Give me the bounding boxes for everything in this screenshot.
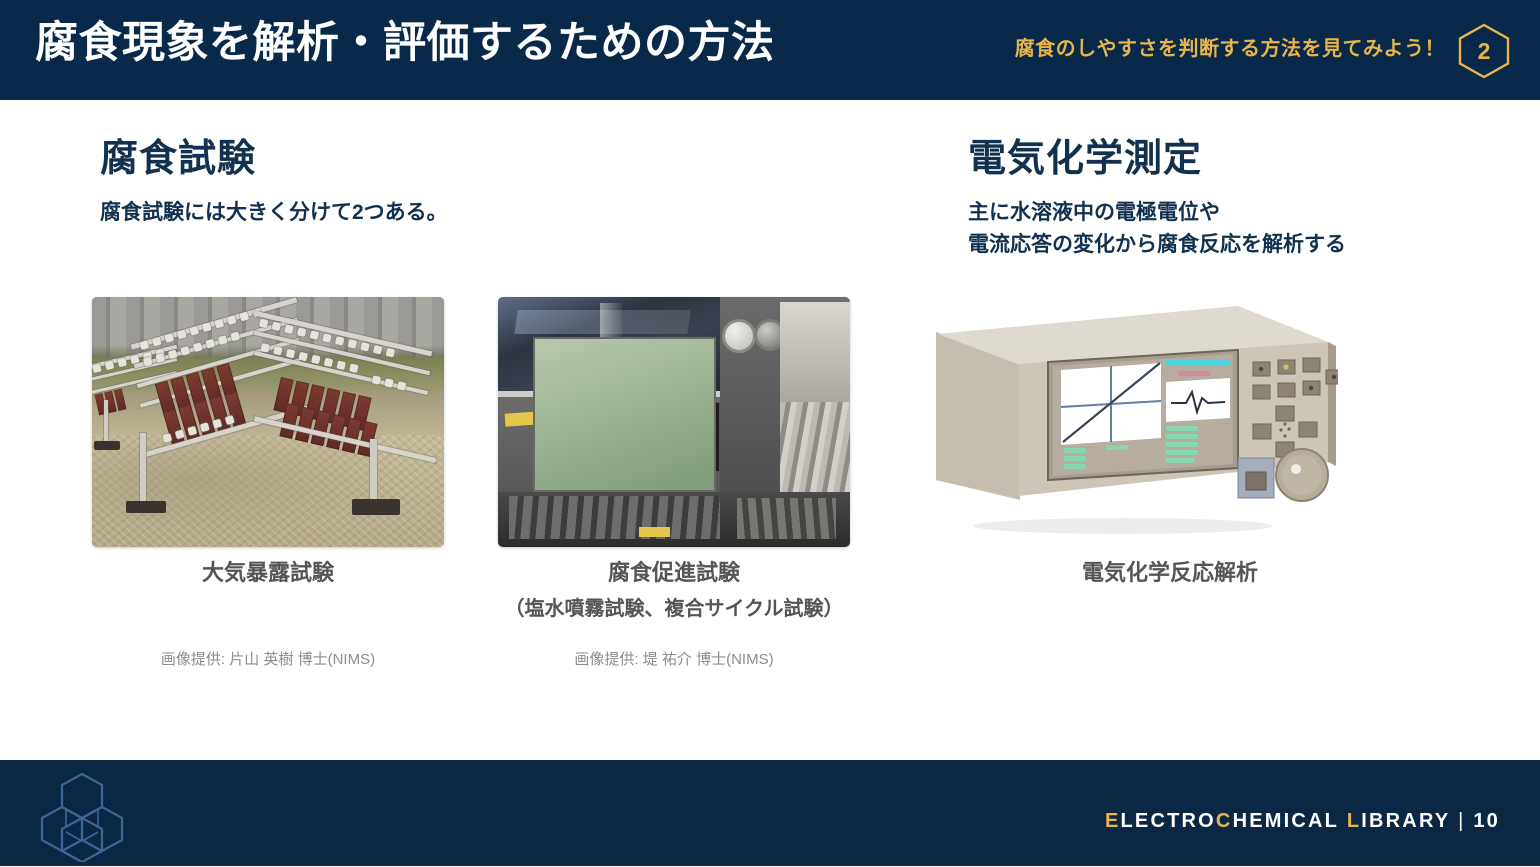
instrument-illustration [908,290,1338,540]
photo-atmospheric-exposure [92,297,444,547]
header-subtitle: 腐食のしやすさを判断する方法を見てみよう！ [1015,32,1445,61]
photo-caption-2: 腐食促進試験 [498,557,850,588]
section-number-badge: 2 [1456,22,1512,80]
left-section-subtitle: 腐食試験には大きく分けて2つある。 [100,198,448,228]
brand-logo [36,770,146,862]
photo-caption-2-sub: （塩水噴霧試験、複合サイクル試験） [498,592,850,621]
right-section-subtitle-line1: 主に水溶液中の電極電位や [968,198,1220,228]
instrument-caption: 電気化学反応解析 [960,557,1380,588]
photo-credit-1: 画像提供: 片山 英樹 博士(NIMS) [92,648,444,669]
footer-brand: ELECTROCHEMICAL LIBRARY | 10 [1105,810,1500,833]
page-header: 腐食現象を解析・評価するための方法 腐食のしやすさを判断する方法を見てみよう！ … [0,0,1540,100]
page-number: 10 [1473,810,1500,832]
footer-separator: | [1458,810,1465,832]
slide-body: 腐食試験 腐食試験には大きく分けて2つある。 [0,100,1540,760]
brand-hemical: HEMICAL [1233,810,1340,832]
brand-letter-c: C [1216,810,1233,832]
brand-ibrary: IBRARY [1361,810,1450,832]
potentiostat-icon [908,290,1338,540]
right-column: 電気化学測定 主に水溶液中の電極電位や 電流応答の変化から腐食反応を解析する [900,100,1540,760]
right-section-title: 電気化学測定 [968,140,1202,178]
photo-caption-1: 大気暴露試験 [92,557,444,588]
photo-salt-spray-chamber [498,297,850,547]
left-column: 腐食試験 腐食試験には大きく分けて2つある。 [0,100,900,760]
pyrene-molecule-icon [36,770,146,862]
brand-letter-l: L [1347,810,1361,832]
right-section-subtitle-line2: 電流応答の変化から腐食反応を解析する [968,230,1346,260]
left-section-title: 腐食試験 [100,140,256,178]
brand-letter-e: E [1105,810,1121,832]
brand-lectro: LECTRO [1120,810,1215,832]
page-footer: ELECTROCHEMICAL LIBRARY | 10 [0,760,1540,866]
page-title: 腐食現象を解析・評価するための方法 [35,22,775,65]
badge-number: 2 [1456,22,1512,80]
photo-credit-2: 画像提供: 堤 祐介 博士(NIMS) [498,648,850,669]
